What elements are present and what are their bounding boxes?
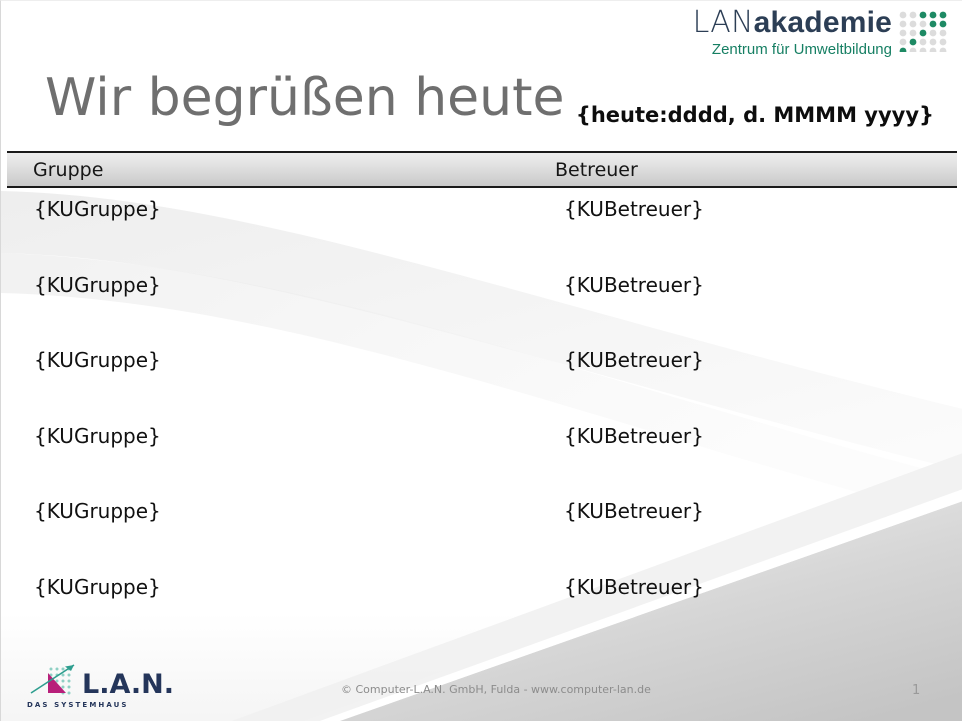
cell-betreuer: {KUBetreuer}	[564, 575, 704, 599]
cell-betreuer: {KUBetreuer}	[564, 197, 704, 221]
dot-grid-icon	[898, 10, 948, 57]
date-field: {heute:dddd, d. MMMM yyyy}	[576, 102, 934, 128]
svg-text:L.A.N.: L.A.N.	[82, 669, 174, 700]
cell-betreuer: {KUBetreuer}	[564, 424, 704, 448]
table-body: {KUGruppe} {KUBetreuer} {KUGruppe} {KUBe…	[1, 197, 962, 650]
lan-logo-graphic: L.A.N. DAS SYSTEMHAUS	[25, 660, 190, 712]
table-row: {KUGruppe} {KUBetreuer}	[1, 197, 962, 273]
page-title: Wir begrüßen heute	[45, 67, 565, 129]
table-row: {KUGruppe} {KUBetreuer}	[1, 273, 962, 349]
footer-copyright: © Computer-L.A.N. GmbH, Fulda - www.comp…	[341, 683, 651, 697]
lan-systemhaus-logo: L.A.N. DAS SYSTEMHAUS	[25, 660, 190, 712]
cell-betreuer: {KUBetreuer}	[564, 499, 704, 523]
cell-gruppe: {KUGruppe}	[34, 499, 161, 523]
cell-gruppe: {KUGruppe}	[34, 424, 161, 448]
svg-text:DAS SYSTEMHAUS: DAS SYSTEMHAUS	[27, 701, 129, 709]
cell-gruppe: {KUGruppe}	[34, 575, 161, 599]
cell-gruppe: {KUGruppe}	[34, 273, 161, 297]
cell-gruppe: {KUGruppe}	[34, 197, 161, 221]
cell-betreuer: {KUBetreuer}	[564, 273, 704, 297]
table-row: {KUGruppe} {KUBetreuer}	[1, 499, 962, 575]
brand-wordmark: LANakademie	[693, 7, 892, 39]
page-number: 1	[912, 683, 920, 699]
brand-text-block: LANakademie Zentrum für Umweltbildung	[693, 7, 898, 60]
column-header-betreuer: Betreuer	[555, 159, 638, 181]
table-row: {KUGruppe} {KUBetreuer}	[1, 348, 962, 424]
brand-lan-text: LAN	[693, 5, 754, 40]
cell-gruppe: {KUGruppe}	[34, 348, 161, 372]
presentation-slide: LANakademie Zentrum für Umweltbildung	[0, 0, 962, 721]
table-row: {KUGruppe} {KUBetreuer}	[1, 424, 962, 500]
table-row: {KUGruppe} {KUBetreuer}	[1, 575, 962, 651]
lan-akademie-logo: LANakademie Zentrum für Umweltbildung	[693, 7, 948, 60]
cell-betreuer: {KUBetreuer}	[564, 348, 704, 372]
brand-akademie-text: akademie	[754, 6, 892, 39]
table-header-row: Gruppe Betreuer	[7, 151, 957, 188]
column-header-gruppe: Gruppe	[33, 159, 103, 181]
brand-tagline: Zentrum für Umweltbildung	[693, 40, 892, 60]
